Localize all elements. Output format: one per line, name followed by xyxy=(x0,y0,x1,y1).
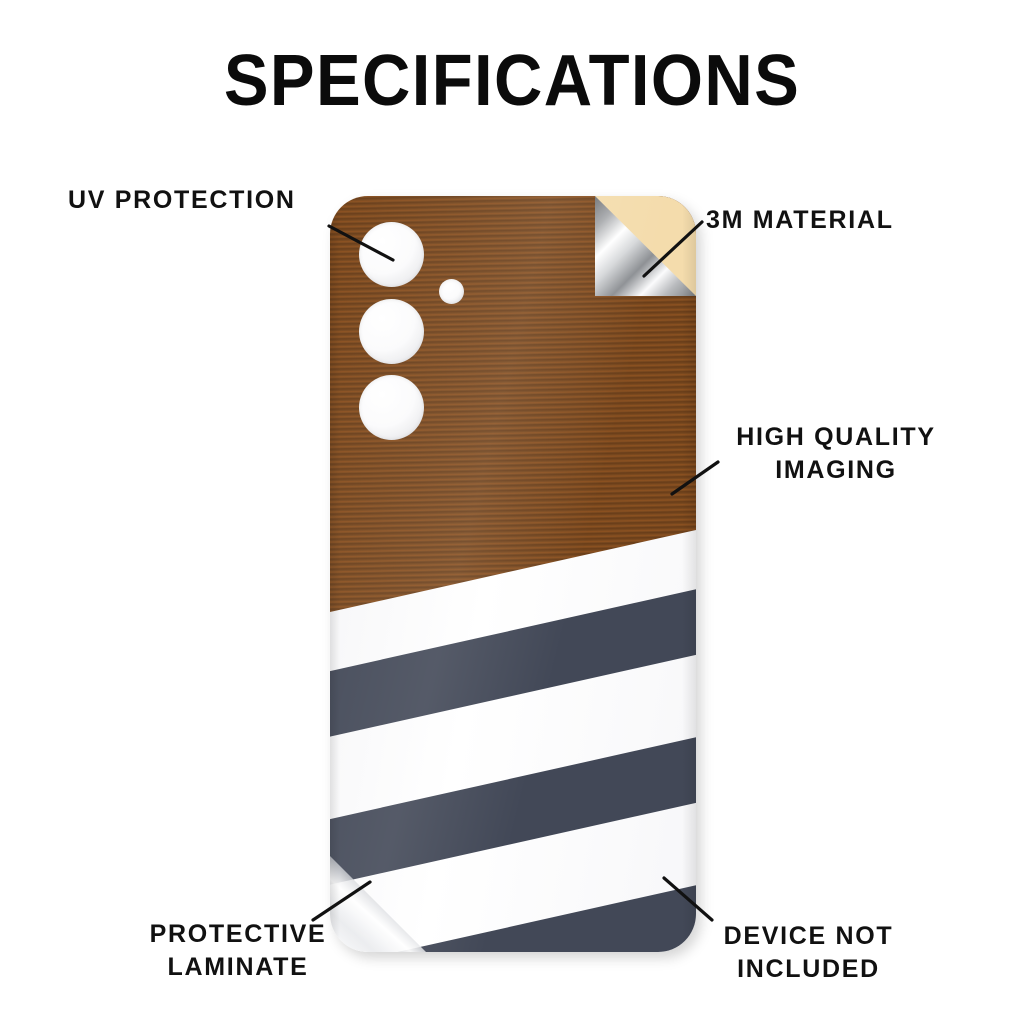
camera-flash-cutout xyxy=(439,279,464,304)
camera-lens-1-cutout xyxy=(359,222,424,287)
callout-label-protective-laminate: PROTECTIVE LAMINATE xyxy=(148,918,328,984)
camera-lens-3-cutout xyxy=(359,375,424,440)
peeled-corner-top-right xyxy=(595,196,696,296)
phone-skin-graphic xyxy=(330,196,696,952)
callout-label-high-quality-imaging: HIGH QUALITY IMAGING xyxy=(722,421,950,487)
callout-label-uv-protection: UV PROTECTION xyxy=(68,184,296,217)
camera-lens-2-cutout xyxy=(359,299,424,364)
skin-body xyxy=(330,196,696,952)
callout-label-3m-material: 3M MATERIAL xyxy=(706,204,894,237)
page-title: SPECIFICATIONS xyxy=(36,42,988,120)
callout-label-device-not-included: DEVICE NOT INCLUDED xyxy=(716,920,901,986)
